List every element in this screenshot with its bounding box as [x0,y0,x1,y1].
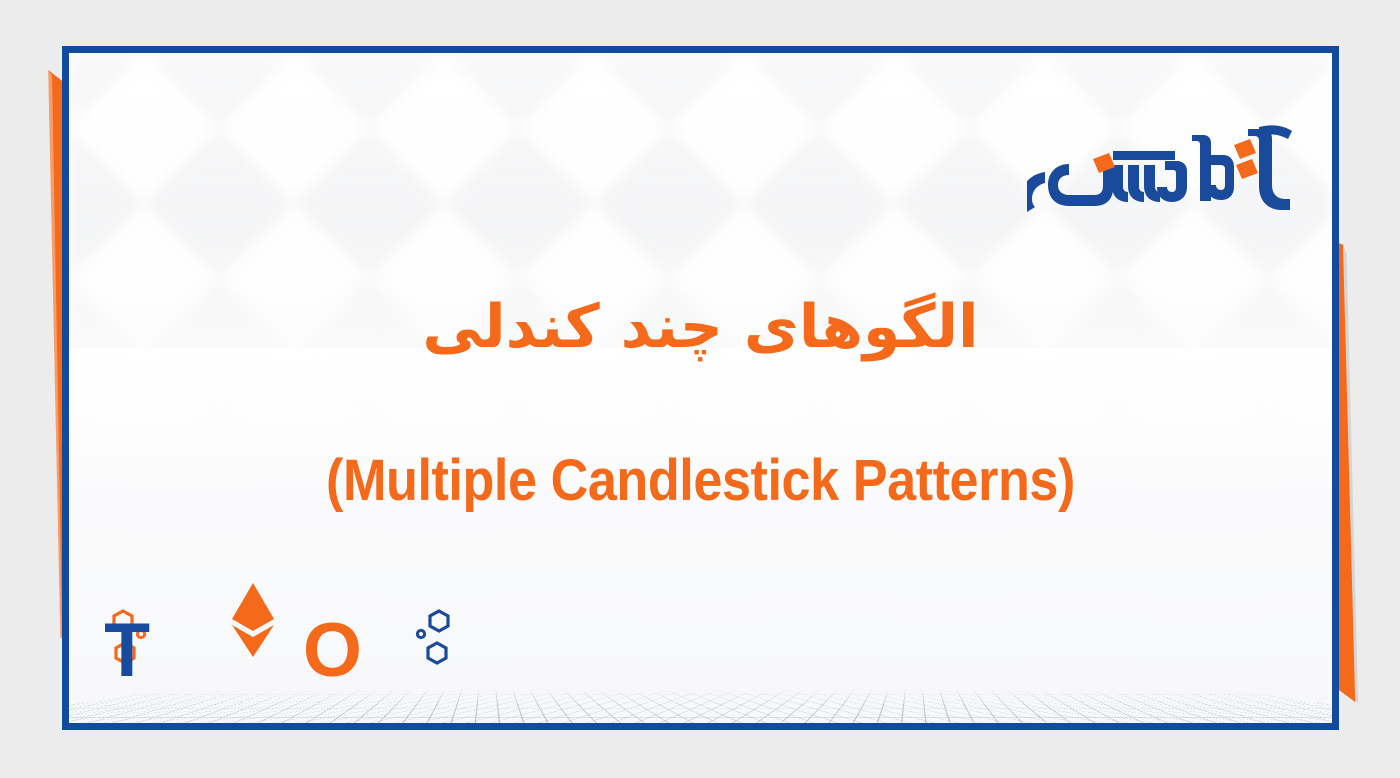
arzarasaneh-logo[interactable] [1027,121,1292,217]
crypto-wordmark-primary: CRYPT [105,608,150,685]
ethereum-diamond-icon [232,583,274,657]
headline-block: الگوهای چند کندلی (Multiple Candlestick … [69,289,1332,510]
hexagon-decor-right [428,611,448,663]
crypto-logo[interactable]: CRYPT O [105,581,461,685]
page-title-fa: الگوهای چند کندلی [69,289,1332,366]
slide-card: الگوهای چند کندلی (Multiple Candlestick … [62,46,1339,730]
slide-root: الگوهای چند کندلی (Multiple Candlestick … [0,0,1400,778]
crypto-wordmark-accent: O [303,608,362,685]
hexagon-decor-right-dot [417,630,424,637]
page-subtitle-en: (Multiple Candlestick Patterns) [132,452,1269,510]
hexagon-perspective-grid [69,689,1332,723]
card-background: الگوهای چند کندلی (Multiple Candlestick … [69,53,1332,723]
